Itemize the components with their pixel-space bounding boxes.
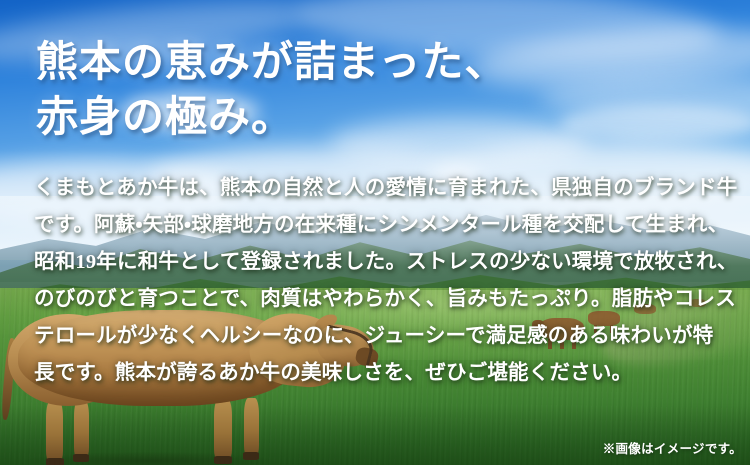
headline-line-2: 赤身の極み。 xyxy=(36,91,736,146)
body-line-2: です。阿蘇・矢部・球磨地方の在来種にシンメンタール種を交配して生まれ、 xyxy=(34,207,724,244)
body-line-4: のびのびと育つことで、肉質はやわらかく、旨みもたっぷり。脂肪やコレス xyxy=(34,281,724,318)
kumamoto-akaushi-banner: 熊本の恵みが詰まった、 赤身の極み。 くまもとあか牛は、熊本の自然と人の愛情に育… xyxy=(0,0,750,465)
headline-line-1: 熊本の恵みが詰まった、 xyxy=(36,36,736,91)
body-line-6: 長です。熊本が誇るあか牛の美味しさを、ぜひご堪能ください。 xyxy=(34,355,724,392)
cow-leg xyxy=(74,400,89,458)
cow-hoof xyxy=(243,452,259,460)
body-line-5: テロールが少なくヘルシーなのに、ジューシーで満足感のある味わいが特 xyxy=(34,318,724,355)
cow-hoof xyxy=(214,456,232,464)
cow-hoof xyxy=(46,458,64,465)
cow-leg xyxy=(214,398,232,460)
cow-leg xyxy=(244,398,259,456)
body-copy: くまもとあか牛は、熊本の自然と人の愛情に育まれた、県独自のブランド牛 です。阿蘇… xyxy=(34,170,724,392)
headline: 熊本の恵みが詰まった、 赤身の極み。 xyxy=(36,36,736,146)
body-line-1: くまもとあか牛は、熊本の自然と人の愛情に育まれた、県独自のブランド牛 xyxy=(34,170,724,207)
cow-hoof xyxy=(73,454,89,462)
image-disclaimer: ※画像はイメージです。 xyxy=(603,438,742,457)
cow-leg xyxy=(46,400,63,462)
body-line-3: 昭和19年に和牛として登録されました。ストレスの少ない環境で放牧され、 xyxy=(34,244,724,281)
